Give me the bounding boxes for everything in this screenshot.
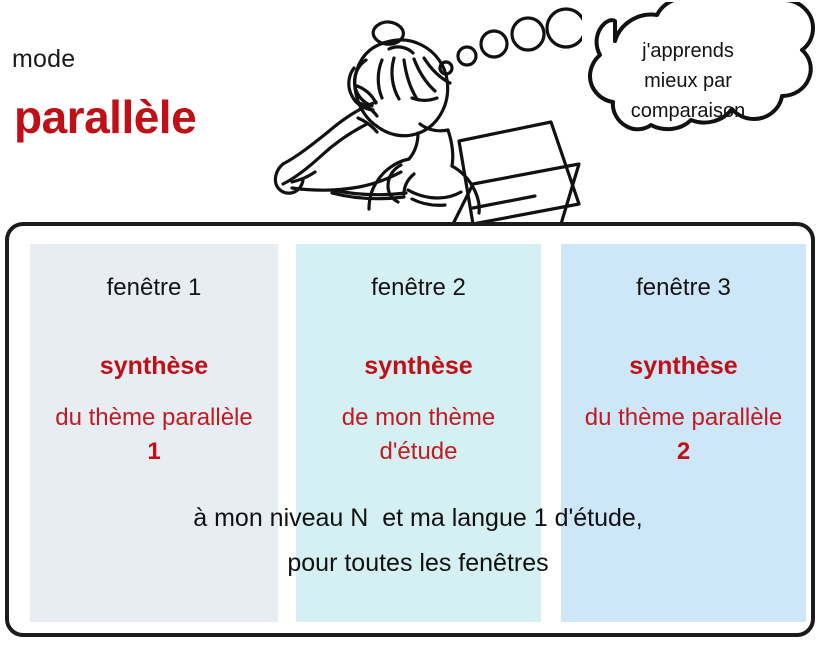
window-1-desc-line-2: 1	[30, 435, 278, 469]
window-1-description: du thème parallèle 1	[30, 401, 278, 469]
window-1-label: fenêtre 1	[30, 274, 278, 302]
window-3-label: fenêtre 3	[561, 274, 806, 302]
windows-panel-row: fenêtre 1 synthèse du thème parallèle 1 …	[9, 226, 811, 633]
window-1-desc-line-1: du thème parallèle	[30, 401, 278, 435]
window-2-description: de mon thème d'étude	[296, 401, 541, 469]
window-2-desc-line-2: d'étude	[296, 435, 541, 469]
window-1-synthesis-word: synthèse	[30, 352, 278, 381]
person-studying-at-laptop-illustration	[262, 2, 582, 224]
page-title: parallèle	[14, 90, 196, 144]
thought-line-2: mieux par	[596, 66, 780, 96]
window-panel-2[interactable]: fenêtre 2 synthèse de mon thème d'étude	[296, 244, 541, 622]
window-3-desc-line-2: 2	[561, 435, 806, 469]
window-2-label: fenêtre 2	[296, 274, 541, 302]
window-3-desc-line-1: du thème parallèle	[561, 401, 806, 435]
header-area: mode parallèle	[0, 0, 829, 222]
thought-cloud-text: j'apprends mieux par comparaison	[596, 36, 780, 126]
window-3-description: du thème parallèle 2	[561, 401, 806, 469]
window-3-synthesis-word: synthèse	[561, 352, 806, 381]
mode-label: mode	[12, 45, 75, 74]
window-panel-1[interactable]: fenêtre 1 synthèse du thème parallèle 1	[30, 244, 278, 622]
thought-line-3: comparaison	[596, 96, 780, 126]
window-2-desc-line-1: de mon thème	[296, 401, 541, 435]
window-2-synthesis-word: synthèse	[296, 352, 541, 381]
windows-container: fenêtre 1 synthèse du thème parallèle 1 …	[5, 222, 815, 637]
window-panel-3[interactable]: fenêtre 3 synthèse du thème parallèle 2	[561, 244, 806, 622]
thought-line-1: j'apprends	[596, 36, 780, 66]
